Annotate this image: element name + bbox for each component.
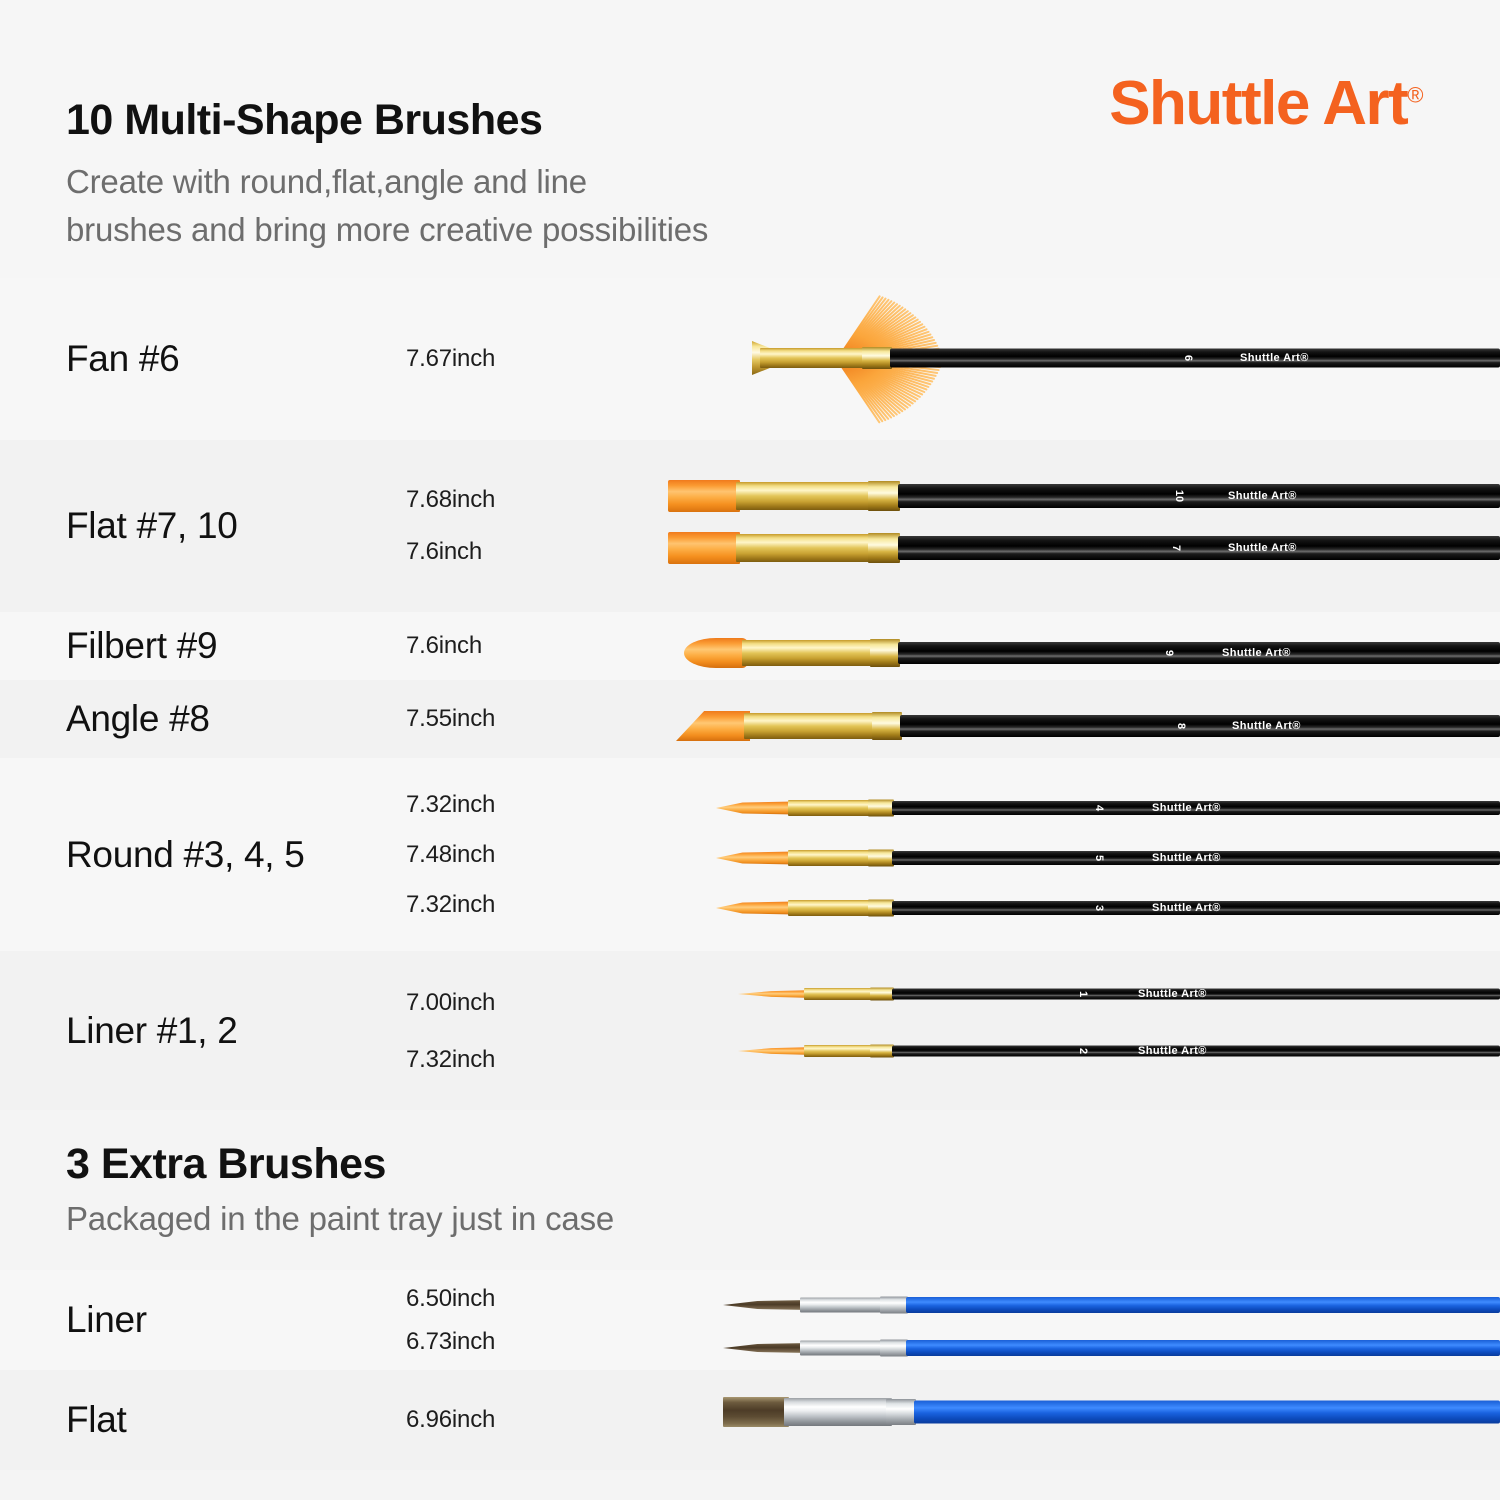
main-header: 10 Multi-Shape Brushes Create with round…: [0, 0, 1500, 278]
handle-brand-text: Shuttle Art®: [1228, 490, 1297, 502]
brown-liner-bristles: [723, 1343, 809, 1353]
brown-liner-bristles: [723, 1300, 809, 1310]
ferrule: [788, 800, 874, 816]
handle-size-number: 1: [1077, 991, 1089, 997]
angle-bristles: [676, 711, 750, 741]
brush-row: Flat6.96inch: [0, 1370, 1500, 1470]
ferrule: [804, 1045, 876, 1057]
brush-row: Filbert #97.6inch9Shuttle Art®: [0, 612, 1500, 680]
ferrule-crimp: [868, 850, 894, 867]
brush-filbert: 9Shuttle Art®: [0, 623, 1500, 680]
brush-flat: 10Shuttle Art®: [0, 466, 1500, 526]
brush-handle: [898, 536, 1500, 560]
ferrule: [760, 348, 868, 368]
ferrule: [804, 988, 876, 1000]
brand-logo: Shuttle Art®: [1109, 68, 1422, 139]
brush-liner: 2Shuttle Art®: [0, 1021, 1500, 1081]
subtitle-line-1: Create with round,flat,angle and line: [66, 163, 587, 200]
product-infographic: 10 Multi-Shape Brushes Create with round…: [0, 0, 1500, 1500]
liner-bristles: [738, 1047, 810, 1055]
brush-angle: 8Shuttle Art®: [0, 696, 1500, 756]
round-bristles: [716, 902, 794, 915]
handle-size-number: 2: [1077, 1048, 1089, 1054]
handle-size-number: 9: [1163, 650, 1175, 656]
blue-handle: [906, 1297, 1500, 1313]
ferrule-crimp: [868, 800, 894, 817]
registered-trademark-icon: ®: [1407, 82, 1422, 107]
handle-brand-text: Shuttle Art®: [1152, 802, 1221, 814]
ferrule-crimp: [868, 533, 900, 563]
blue-handle: [906, 1340, 1500, 1356]
handle-brand-text: Shuttle Art®: [1152, 852, 1221, 864]
ferrule: [742, 640, 876, 666]
ferrule-crimp: [870, 988, 894, 1001]
brush-row: Round #3, 4, 57.32inch7.48inch7.32inch4S…: [0, 758, 1500, 951]
ferrule-crimp: [870, 1045, 894, 1058]
brush-row: Flat #7, 107.68inch7.6inch10Shuttle Art®…: [0, 440, 1500, 612]
ferrule-crimp: [872, 712, 902, 740]
brush-row: Fan #67.67inch6Shuttle Art®: [0, 278, 1500, 440]
handle-size-number: 6: [1182, 355, 1194, 361]
silver-crimp: [880, 1340, 908, 1357]
brush-liner: 1Shuttle Art®: [0, 964, 1500, 1024]
subtitle-line-2: brushes and bring more creative possibil…: [66, 211, 708, 248]
brush-handle: [898, 484, 1500, 508]
handle-brand-text: Shuttle Art®: [1138, 1045, 1207, 1057]
silver-ferrule: [800, 1298, 886, 1313]
flat-bristles: [668, 480, 740, 512]
handle-brand-text: Shuttle Art®: [1240, 352, 1309, 364]
handle-brand-text: Shuttle Art®: [1138, 988, 1207, 1000]
handle-brand-text: Shuttle Art®: [1222, 647, 1291, 659]
extra-section-header: 3 Extra Brushes Packaged in the paint tr…: [0, 1110, 1500, 1270]
brush-handle: [890, 349, 1500, 368]
brush-blue-liner: [0, 1318, 1500, 1370]
ferrule: [744, 713, 878, 739]
brush-flat: 7Shuttle Art®: [0, 518, 1500, 578]
liner-bristles: [738, 990, 810, 998]
page-title: 10 Multi-Shape Brushes: [66, 96, 542, 145]
ferrule: [736, 482, 874, 510]
handle-brand-text: Shuttle Art®: [1232, 720, 1301, 732]
brand-name: Shuttle Art: [1109, 69, 1407, 138]
brush-handle: [900, 715, 1500, 737]
handle-brand-text: Shuttle Art®: [1228, 542, 1297, 554]
brown-flat-bristles: [723, 1397, 789, 1427]
ferrule-crimp: [870, 639, 900, 667]
handle-size-number: 8: [1175, 723, 1187, 729]
flat-bristles: [668, 532, 740, 564]
extra-section-title: 3 Extra Brushes: [66, 1140, 386, 1189]
handle-size-number: 5: [1093, 855, 1105, 861]
brush-handle: [898, 642, 1500, 664]
ferrule: [788, 900, 874, 916]
round-bristles: [716, 852, 794, 865]
brush-fan: 6Shuttle Art®: [0, 328, 1500, 388]
handle-size-number: 7: [1170, 545, 1182, 551]
silver-crimp: [886, 1399, 916, 1425]
filbert-bristles: [684, 638, 748, 668]
handle-size-number: 10: [1173, 490, 1185, 502]
brush-blue-flat: [0, 1382, 1500, 1442]
silver-crimp: [880, 1297, 908, 1314]
blue-handle: [914, 1401, 1500, 1424]
brush-round: 3Shuttle Art®: [0, 878, 1500, 938]
ferrule-crimp: [868, 900, 894, 917]
brush-row: Liner #1, 27.00inch7.32inch1Shuttle Art®…: [0, 951, 1500, 1110]
ferrule-crimp: [868, 481, 900, 511]
brush-row: Angle #87.55inch8Shuttle Art®: [0, 680, 1500, 758]
handle-brand-text: Shuttle Art®: [1152, 902, 1221, 914]
round-bristles: [716, 802, 794, 815]
ferrule: [736, 534, 874, 562]
handle-size-number: 3: [1093, 905, 1105, 911]
ferrule-crimp: [862, 347, 892, 369]
silver-ferrule: [800, 1341, 886, 1356]
page-subtitle: Create with round,flat,angle and line br…: [66, 158, 966, 254]
ferrule: [788, 850, 874, 866]
extra-section-subtitle: Packaged in the paint tray just in case: [66, 1200, 614, 1238]
silver-ferrule: [784, 1398, 892, 1426]
brush-row: Liner6.50inch6.73inch: [0, 1270, 1500, 1370]
handle-size-number: 4: [1093, 805, 1105, 811]
